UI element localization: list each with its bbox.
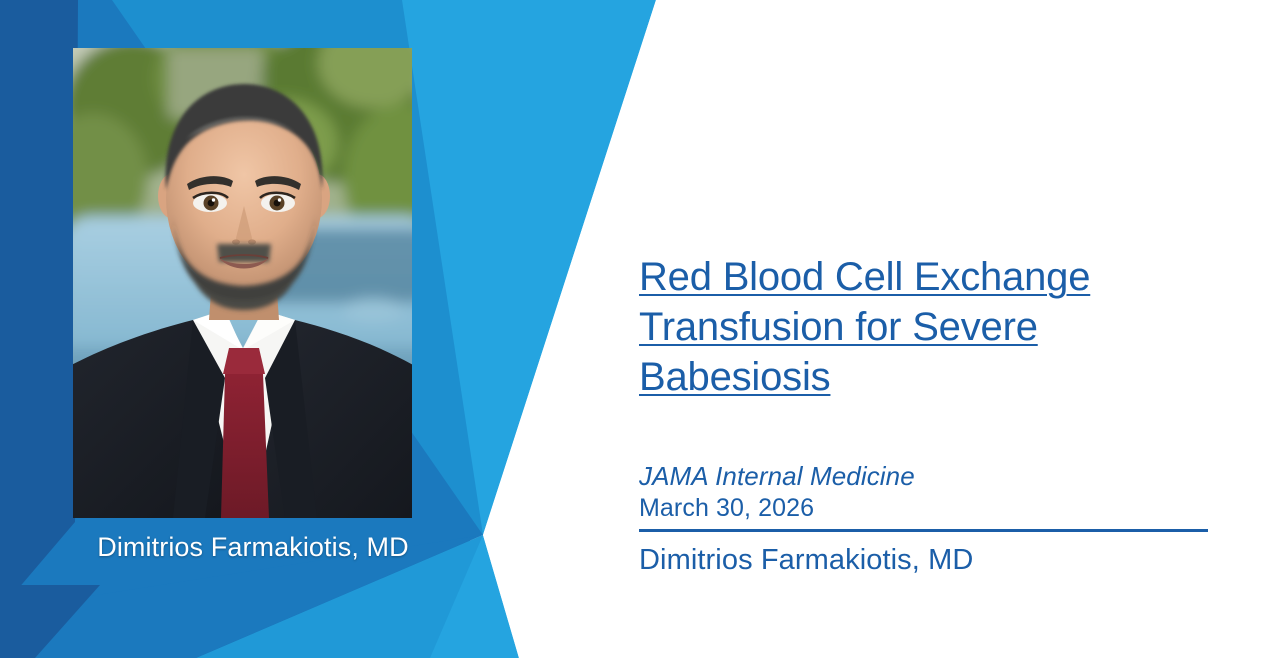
article-title-link[interactable]: Red Blood Cell Exchange Transfusion for … — [639, 252, 1211, 402]
divider-rule — [639, 529, 1208, 532]
presenter-name: Dimitrios Farmakiotis, MD — [639, 540, 1211, 580]
speaker-photo-caption: Dimitrios Farmakiotis, MD — [73, 529, 433, 565]
title-slide: Dimitrios Farmakiotis, MD Red Blood Cell… — [0, 0, 1280, 658]
publication-meta: JAMA Internal Medicine March 30, 2026 Di… — [639, 460, 1211, 580]
publication-date: March 30, 2026 — [639, 492, 1211, 524]
speaker-photo — [73, 48, 412, 518]
slide-content: Red Blood Cell Exchange Transfusion for … — [639, 252, 1211, 580]
speaker-photo-image — [73, 48, 412, 518]
journal-name: JAMA Internal Medicine — [639, 460, 1211, 492]
